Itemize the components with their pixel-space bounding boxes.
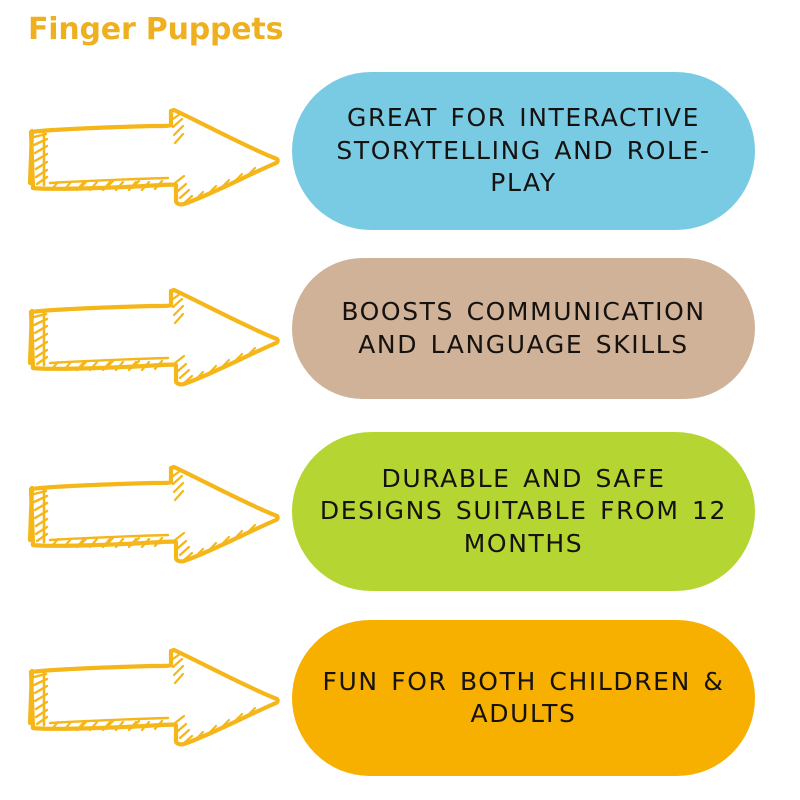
- hand-drawn-right-arrow-icon: [24, 645, 286, 749]
- infographic-canvas: Finger Puppets: [0, 0, 800, 800]
- hand-drawn-right-arrow-icon: [24, 285, 286, 389]
- hand-drawn-right-arrow-icon: [24, 105, 286, 209]
- benefit-text-1: GREAT FOR INTERACTIVE STORYTELLING AND R…: [318, 102, 729, 200]
- benefit-text-2: BOOSTS COMMUNICATION AND LANGUAGE SKILLS: [318, 296, 729, 361]
- benefit-pill-1[interactable]: GREAT FOR INTERACTIVE STORYTELLING AND R…: [292, 72, 755, 230]
- hand-drawn-right-arrow-icon: [24, 462, 286, 566]
- page-title: Finger Puppets: [28, 13, 283, 46]
- benefit-text-4: FUN FOR BOTH CHILDREN & ADULTS: [318, 666, 729, 731]
- benefit-pill-2[interactable]: BOOSTS COMMUNICATION AND LANGUAGE SKILLS: [292, 258, 755, 399]
- benefit-text-3: DURABLE AND SAFE DESIGNS SUITABLE FROM 1…: [318, 463, 729, 561]
- benefit-pill-3[interactable]: DURABLE AND SAFE DESIGNS SUITABLE FROM 1…: [292, 432, 755, 591]
- benefit-pill-4[interactable]: FUN FOR BOTH CHILDREN & ADULTS: [292, 620, 755, 776]
